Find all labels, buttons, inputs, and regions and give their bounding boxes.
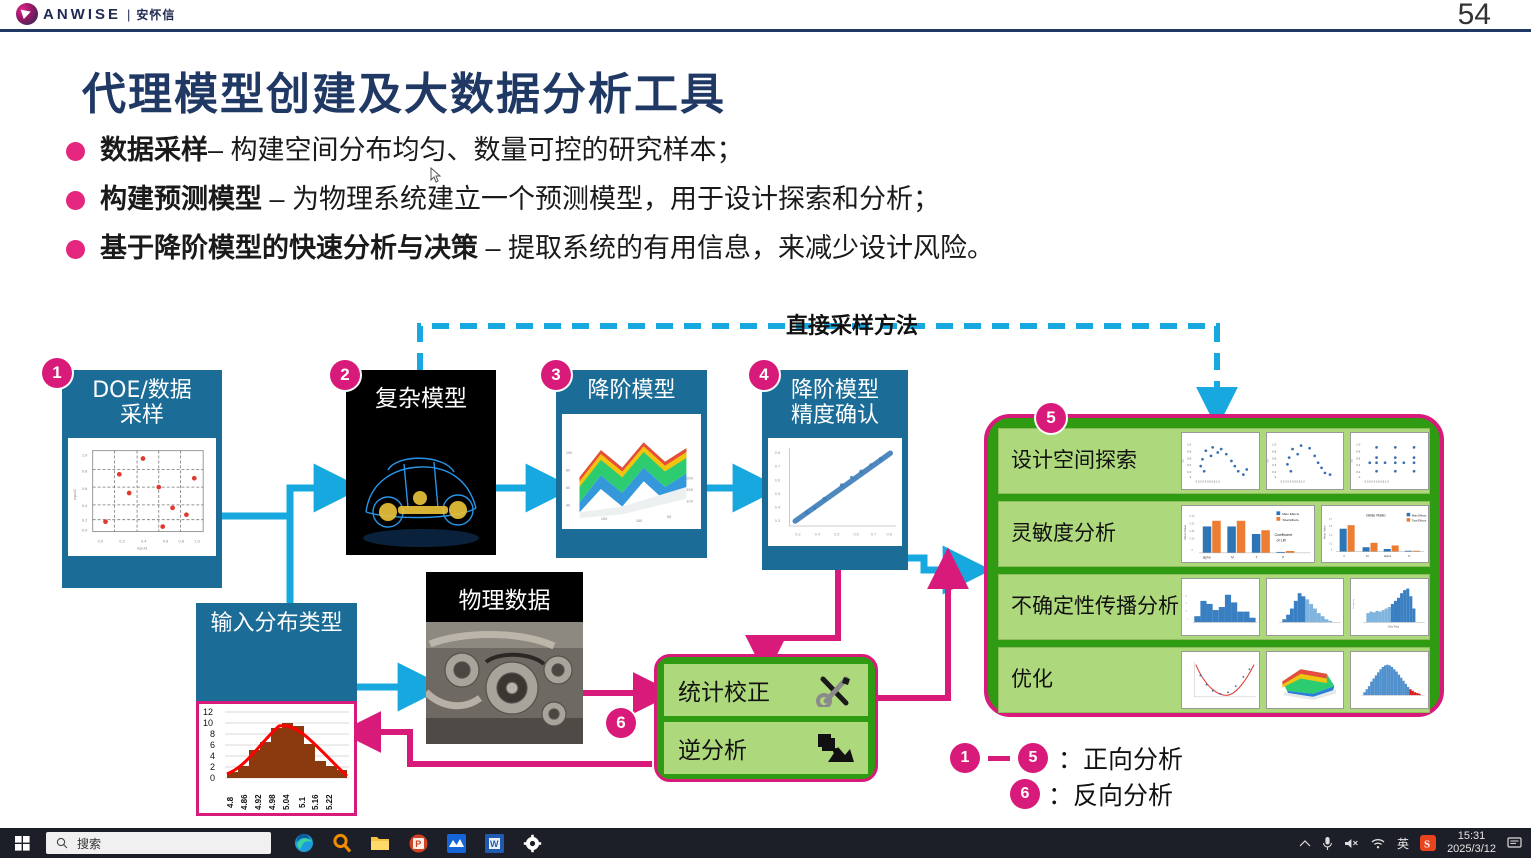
node-badge-1: 1 [42, 358, 72, 388]
node-doe-sampling[interactable]: DOE/数据 采样 [62, 370, 222, 588]
svg-text:0.6: 0.6 [1272, 456, 1276, 460]
node-badge-5: 5 [1036, 403, 1066, 433]
file-explorer-icon[interactable] [369, 832, 391, 854]
svg-text:80: 80 [566, 467, 570, 472]
svg-text:20: 20 [1185, 595, 1187, 597]
bullet-text: 构建预测模型 – 为物理系统建立一个预测模型，用于设计探索和分析； [100, 184, 940, 215]
node-complex-model[interactable]: 复杂模型 [346, 370, 496, 550]
node-label: 复杂模型 [346, 370, 496, 420]
svg-text:0.8: 0.8 [886, 532, 891, 537]
node-badge-6: 6 [606, 708, 636, 738]
analysis-row-design-space[interactable]: 设计空间探索 1.00.80.6 0.40.20 0 0.2 0.4 [998, 428, 1430, 494]
panel-calibration: 统计校正 逆分析 [654, 654, 878, 782]
svg-text:4.92: 4.92 [254, 794, 263, 810]
svg-text:1.0: 1.0 [82, 453, 88, 458]
thumb-scatter-grid: 1.00.80.6 0.40.20 0 0.2 0.4 0.6 0.8 1.0 … [1350, 432, 1429, 490]
row-label: 优化 [999, 668, 1181, 692]
svg-text:1.0: 1.0 [1187, 443, 1191, 447]
node-reduced-order-model[interactable]: 降阶模型 100806040 200150100 10015050 [556, 370, 707, 558]
bullet-bold: 构建预测模型 [100, 184, 262, 214]
workflow-diagram: 直接采样方法 1 DOE/数据 采样 [0, 298, 1531, 828]
thumb-bars-coefficient-of-lift: Main Effects Total Effects Coefficientof… [1181, 505, 1315, 563]
bullet-item: 数据采样– 构建空间分布均匀、数量可控的研究样本； [66, 135, 1266, 166]
svg-text:2: 2 [210, 762, 215, 772]
svg-text:0.2: 0.2 [82, 518, 87, 523]
thumb-surface-3d: 100806040 200150100 10015050 [562, 414, 701, 529]
legend-badge-from: 6 [1010, 779, 1040, 809]
svg-text:4: 4 [210, 751, 215, 761]
svg-text:0: 0 [210, 773, 215, 783]
windows-logo-icon [15, 836, 30, 851]
svg-text:0.3: 0.3 [795, 532, 800, 537]
logo-text-cn: 安怀信 [136, 6, 175, 23]
svg-text:P: P [1409, 554, 1411, 558]
node-badge-2: 2 [330, 360, 360, 390]
svg-text:0.8: 0.8 [1272, 449, 1276, 453]
bullet-item: 构建预测模型 – 为物理系统建立一个预测模型，用于设计探索和分析； [66, 184, 1266, 215]
input-histogram-chart: 12108 6420 4.8 4.86 4.92 4.98 5.04 5.1 5… [199, 704, 354, 813]
svg-text:X2: X2 [1351, 459, 1354, 463]
bullet-dot-icon [66, 240, 85, 259]
analysis-row-sensitivity[interactable]: 灵敏度分析 [998, 501, 1430, 567]
bullet-list: 数据采样– 构建空间分布均匀、数量可控的研究样本； 构建预测模型 – 为物理系统… [66, 135, 1266, 282]
sogou-icon[interactable]: S [1420, 835, 1436, 851]
node-label: 降阶模型 [558, 372, 705, 410]
svg-text:0.4: 0.4 [82, 503, 88, 508]
svg-text:X2: X2 [1267, 459, 1270, 463]
svg-text:0.8: 0.8 [1356, 449, 1360, 453]
wifi-icon[interactable] [1370, 837, 1386, 849]
svg-text:0.8: 0.8 [82, 469, 88, 474]
clock-date: 2025/3/12 [1447, 843, 1496, 856]
bullet-text: 基于降阶模型的快速分析与决策 – 提取系统的有用信息，来减少设计风险。 [100, 233, 994, 264]
svg-text:15: 15 [1185, 603, 1187, 605]
microphone-icon[interactable] [1322, 836, 1333, 851]
svg-text:0.2: 0.2 [1187, 470, 1191, 474]
row-thumbnails [1181, 651, 1429, 709]
svg-text:Total Effects: Total Effects [1282, 518, 1299, 522]
speaker-muted-icon[interactable] [1344, 837, 1359, 850]
svg-text:5.22: 5.22 [325, 794, 334, 810]
svg-text:1.0: 1.0 [1356, 443, 1360, 447]
settings-icon[interactable] [521, 832, 543, 854]
svg-text:0.6: 0.6 [775, 478, 780, 483]
diagram-legend: 1 5 ：正向分析 6 ：反向分析 [950, 740, 1183, 812]
thumb-hist-2 [1266, 578, 1345, 636]
bullet-bold: 数据采样 [100, 135, 208, 165]
row-label: 不确定性传播分析 [999, 595, 1181, 619]
node-physical-data[interactable]: 物理数据 [426, 572, 583, 738]
search-icon [56, 837, 68, 849]
calibration-row-statistical[interactable]: 统计校正 [664, 664, 868, 716]
svg-text:0.4: 0.4 [141, 539, 147, 544]
svg-text:T: T [1256, 556, 1258, 560]
analysis-row-uncertainty[interactable]: 不确定性传播分析 [998, 574, 1430, 640]
tools-icon [814, 673, 854, 707]
svg-text:10: 10 [203, 718, 213, 728]
surface-3d-chart: 100806040 200150100 10015050 [562, 414, 701, 529]
bullet-bold: 基于降阶模型的快速分析与决策 [100, 233, 478, 263]
anwise-logo-icon [16, 3, 38, 25]
taskbar-app-icons: P W [293, 832, 543, 854]
svg-text:1.0: 1.0 [1272, 443, 1276, 447]
thumb-input-histogram: 12108 6420 4.8 4.86 4.92 4.98 5.04 5.1 5… [196, 701, 357, 816]
row-label: 灵敏度分析 [999, 522, 1181, 546]
clock[interactable]: 15:31 2025/3/12 [1447, 830, 1496, 856]
thumb-hist-red-tail [1350, 651, 1429, 709]
correlation-scatter-chart: 0.80.70.6 0.50.40.3 0.30.40.5 0.60.70.8 [768, 438, 902, 546]
svg-text:Mean Value: Mean Value [1183, 524, 1187, 539]
svg-text:Glide Ratio: Glide Ratio [1388, 626, 1400, 629]
everything-icon[interactable] [331, 832, 353, 854]
svg-text:4.98: 4.98 [268, 794, 277, 810]
svg-text:0.2: 0.2 [1356, 470, 1360, 474]
row-label: 逆分析 [678, 731, 747, 765]
node-rom-accuracy[interactable]: 降阶模型 精度确认 0.80.70.6 [762, 370, 908, 570]
search-placeholder: 搜索 [77, 835, 101, 852]
svg-text:Total Effects: Total Effects [1412, 519, 1427, 523]
mouse-cursor [430, 167, 442, 183]
thumb-correlation-scatter: 0.80.70.6 0.50.40.3 0.30.40.5 0.60.70.8 [768, 438, 902, 546]
legend-badge-from: 1 [950, 743, 980, 773]
svg-text:S: S [1424, 839, 1430, 851]
svg-text:0.2: 0.2 [119, 539, 124, 544]
word-icon[interactable]: W [483, 832, 505, 854]
legend-dash-icon [988, 756, 1010, 761]
svg-text:of Lift: of Lift [1276, 539, 1286, 543]
header-divider [0, 29, 1531, 32]
svg-text:0.8: 0.8 [1187, 449, 1191, 453]
svg-text:6: 6 [210, 740, 215, 750]
svg-text:150: 150 [686, 487, 692, 492]
thumb-scatter-1: 1.00.80.6 0.40.20 0 0.2 0.4 0.6 0.8 1.0 … [1181, 432, 1260, 490]
legend-label: ：正向分析 [1058, 740, 1183, 776]
svg-text:0.30: 0.30 [1190, 530, 1195, 533]
thumb-bars-glide-ratio: Glide Ratio Main Effects Tota [1321, 505, 1429, 563]
row-thumbnails: 1.00.80.6 0.40.20 0 0.2 0.4 0.6 0.8 1.0 … [1181, 432, 1429, 490]
svg-text:0.6: 0.6 [82, 486, 88, 491]
svg-text:1.0: 1.0 [194, 539, 200, 544]
bullet-dot-icon [66, 142, 85, 161]
svg-text:P: P [415, 839, 421, 849]
svg-text:P: P [1282, 556, 1284, 560]
notification-icon[interactable] [1507, 836, 1523, 850]
ime-icon[interactable]: 英 [1397, 835, 1409, 852]
svg-text:5.04: 5.04 [282, 794, 291, 810]
bullet-text: 数据采样– 构建空间分布均匀、数量可控的研究样本； [100, 135, 744, 166]
row-thumbnails: Main Effects Total Effects Coefficientof… [1181, 505, 1429, 563]
bullet-item: 基于降阶模型的快速分析与决策 – 提取系统的有用信息，来减少设计风险。 [66, 233, 1266, 264]
node-label: 降阶模型 精度确认 [764, 372, 906, 434]
svg-text:0.70: 0.70 [1190, 515, 1195, 518]
row-label: 设计空间探索 [999, 449, 1181, 473]
node-input-distribution[interactable]: 输入分布类型 [196, 603, 357, 701]
svg-text:0.3: 0.3 [775, 518, 780, 523]
svg-text:10: 10 [1185, 611, 1187, 613]
svg-text:Coefficient: Coefficient [1275, 533, 1294, 537]
svg-text:8: 8 [210, 729, 215, 739]
powerpoint-icon[interactable]: P [407, 832, 429, 854]
svg-text:0.5: 0.5 [834, 532, 839, 537]
legend-reverse: 6 ：反向分析 [1010, 776, 1183, 812]
clock-time: 15:31 [1447, 830, 1496, 843]
svg-text:0.5: 0.5 [775, 491, 780, 496]
row-thumbnails: 2015105 [1181, 578, 1429, 636]
svg-text:0.7: 0.7 [871, 532, 876, 537]
svg-text:0.8: 0.8 [179, 539, 185, 544]
svg-text:100: 100 [686, 498, 692, 503]
svg-text:0.4: 0.4 [815, 532, 821, 537]
svg-text:0.6: 0.6 [1356, 456, 1360, 460]
node-label: DOE/数据 采样 [64, 372, 220, 434]
logo-text-en: ANWISE [43, 6, 121, 23]
svg-text:100: 100 [566, 450, 572, 455]
svg-text:100: 100 [601, 516, 607, 521]
company-logo: ANWISE | 安怀信 [16, 3, 175, 25]
logo-separator: | [127, 7, 130, 22]
thumb-hist-glide-ratio: Glide Ratio Frequency [1350, 578, 1429, 636]
car-wireframe-image [346, 420, 496, 555]
svg-text:Main Effects: Main Effects [1412, 513, 1427, 517]
svg-text:0.4: 0.4 [1356, 463, 1360, 467]
svg-text:Frequency: Frequency [1352, 599, 1355, 608]
calibration-row-inverse[interactable]: 逆分析 [664, 722, 868, 774]
bullet-rest: – 为物理系统建立一个预测模型，用于设计探索和分析； [262, 184, 940, 214]
svg-text:60: 60 [566, 485, 570, 490]
panel-analysis-capabilities: 设计空间探索 1.00.80.6 0.40.20 0 0.2 0.4 [984, 414, 1444, 717]
svg-text:0.4: 0.4 [775, 505, 781, 510]
node-badge-3: 3 [541, 360, 571, 390]
svg-text:0.0: 0.0 [98, 539, 104, 544]
engine-photo-image [426, 622, 583, 744]
thumb-scatter-2: 1.00.80.6 0.40.20 0 0.2 0.4 0.6 0.8 1.0 … [1266, 432, 1345, 490]
page-number: 54 [1458, 0, 1491, 32]
svg-text:0.50: 0.50 [1190, 523, 1195, 526]
page-title: 代理模型创建及大数据分析工具 [82, 58, 726, 122]
svg-text:12: 12 [203, 707, 213, 717]
svg-text:5.16: 5.16 [311, 794, 320, 810]
svg-text:4.86: 4.86 [240, 794, 249, 810]
svg-text:0.6: 0.6 [1187, 456, 1191, 460]
direct-sampling-label: 直接采样方法 [786, 308, 918, 340]
inverse-analysis-icon [814, 731, 854, 765]
svg-text:40: 40 [566, 502, 570, 507]
svg-text:200: 200 [686, 475, 692, 480]
svg-text:X2: X2 [1182, 459, 1185, 463]
legend-forward: 1 5 ：正向分析 [950, 740, 1183, 776]
svg-text:0 0.2 0.4 0.6 0.8 1.0: 0 0.2 0.4 0.6 0.8 1.0 [1280, 479, 1305, 483]
svg-text:0.4: 0.4 [1272, 463, 1276, 467]
start-button[interactable] [0, 828, 44, 858]
slide-canvas: ANWISE | 安怀信 54 代理模型创建及大数据分析工具 数据采样– 构建空… [0, 0, 1531, 828]
search-input[interactable]: 搜索 [46, 832, 271, 854]
svg-text:0.6: 0.6 [853, 532, 858, 537]
app-icon[interactable] [445, 832, 467, 854]
svg-text:Glide Ratio: Glide Ratio [1366, 512, 1386, 517]
chevron-up-icon[interactable] [1299, 839, 1311, 848]
svg-text:0.7: 0.7 [775, 464, 780, 469]
analysis-row-optimization[interactable]: 优化 [998, 647, 1430, 713]
svg-text:W: W [490, 839, 499, 849]
thumb-scatter-doe: 0.00.20.4 0.60.81.0 input1 1.00.80.6 0.4… [68, 438, 216, 556]
windows-taskbar: 搜索 P [0, 828, 1531, 858]
thumb-convergence-curve [1181, 651, 1260, 709]
svg-text:0.6: 0.6 [163, 539, 169, 544]
thumb-surface-opt [1266, 651, 1345, 709]
svg-text:input2: input2 [72, 489, 77, 500]
svg-text:0.4: 0.4 [1187, 463, 1191, 467]
bullet-rest: – 提取系统的有用信息，来减少设计风险。 [478, 233, 994, 263]
system-tray: 英 S 15:31 2025/3/12 [1299, 828, 1523, 858]
doe-scatter-chart: 0.00.20.4 0.60.81.0 input1 1.00.80.6 0.4… [68, 438, 216, 556]
bullet-dot-icon [66, 191, 85, 210]
svg-text:5.1: 5.1 [298, 796, 307, 808]
svg-text:T: T [1343, 554, 1345, 558]
svg-text:5: 5 [1187, 618, 1188, 620]
svg-text:50: 50 [667, 514, 671, 519]
legend-label: ：反向分析 [1048, 776, 1173, 812]
row-label: 统计校正 [678, 673, 770, 707]
node-label: 物理数据 [426, 572, 583, 622]
svg-text:0 0.2 0.4 0.6 0.8 1.0: 0 0.2 0.4 0.6 0.8 1.0 [1196, 479, 1221, 483]
slide-header: ANWISE | 安怀信 54 [0, 0, 1531, 30]
svg-text:0.0: 0.0 [82, 528, 88, 533]
svg-text:M: M [1231, 556, 1234, 560]
svg-text:0.2: 0.2 [1272, 470, 1276, 474]
svg-text:Mean Value: Mean Value [1323, 525, 1327, 539]
svg-text:4.8: 4.8 [226, 796, 235, 808]
svg-text:0.8: 0.8 [775, 450, 780, 455]
thumb-hist-1: 2015105 [1181, 578, 1260, 636]
svg-text:input1: input1 [137, 546, 148, 551]
edge-icon[interactable] [293, 832, 315, 854]
svg-text:0.10: 0.10 [1190, 538, 1195, 541]
svg-text:Main Effects: Main Effects [1282, 512, 1299, 516]
node-badge-4: 4 [749, 360, 779, 390]
svg-text:alpha: alpha [1203, 556, 1211, 560]
svg-text:150: 150 [636, 518, 642, 523]
svg-text:alpha: alpha [1384, 554, 1392, 558]
node-label: 输入分布类型 [198, 605, 355, 643]
svg-text:0 0.2 0.4 0.6 0.8 1.0: 0 0.2 0.4 0.6 0.8 1.0 [1365, 479, 1390, 483]
legend-badge-to: 5 [1018, 743, 1048, 773]
bullet-rest: – 构建空间分布均匀、数量可控的研究样本； [208, 135, 744, 165]
